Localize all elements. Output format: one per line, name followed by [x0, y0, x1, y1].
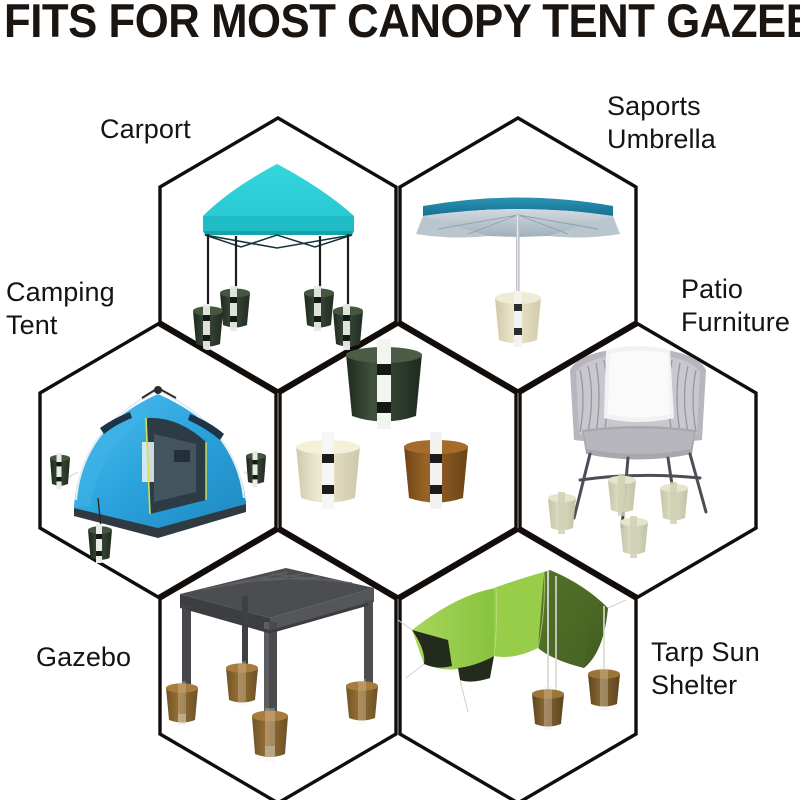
infographic-page: FITS FOR MOST CANOPY TENT GAZEBO — [0, 0, 800, 800]
hex-cell-gazebo[interactable] — [158, 528, 398, 800]
hex-outline-tarp — [398, 528, 638, 800]
label-patio-furniture: Patio Furniture — [681, 273, 790, 339]
label-gazebo: Gazebo — [36, 641, 131, 674]
label-sports-umbrella: Saports Umbrella — [607, 90, 716, 156]
label-tarp-sun-shelter: Tarp Sun Shelter — [651, 636, 760, 702]
label-camping-tent: Camping Tent — [6, 276, 115, 342]
hex-outline-gazebo — [158, 528, 398, 800]
label-carport: Carport — [100, 113, 191, 146]
hex-cell-tarp-sun-shelter[interactable] — [398, 528, 638, 800]
